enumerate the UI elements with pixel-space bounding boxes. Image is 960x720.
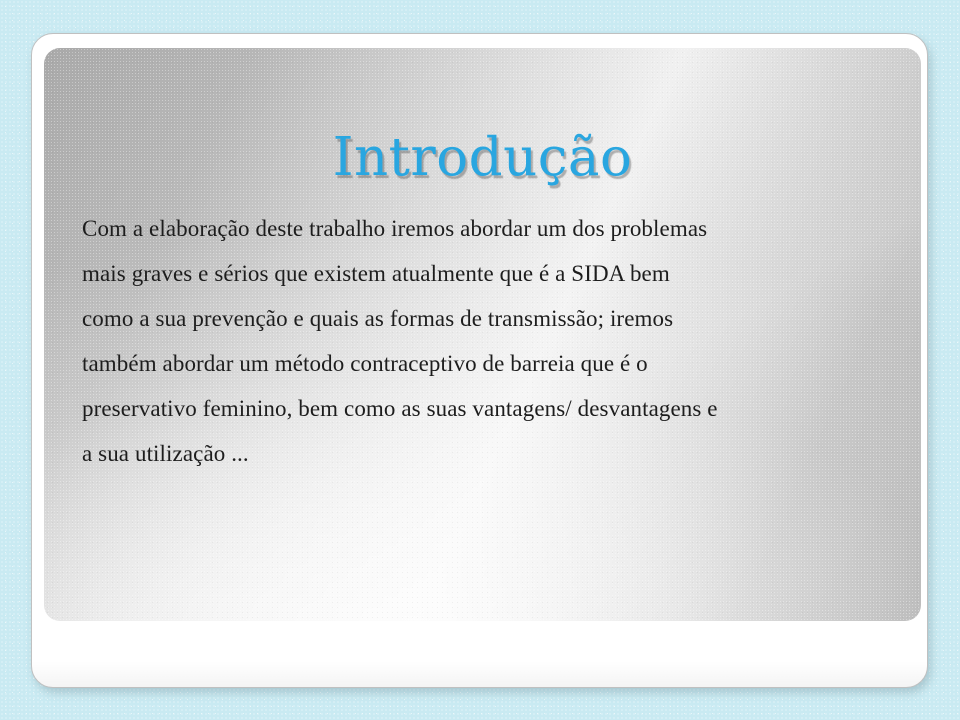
body-line-1: Com a elaboração deste trabalho iremos a… (82, 206, 872, 251)
body-line-6: a sua utilização ... (82, 431, 872, 476)
slide-content-panel: Introdução Com a elaboração deste trabal… (44, 48, 921, 621)
body-line-2: mais graves e sérios que existem atualme… (82, 251, 872, 296)
slide-frame: Introdução Com a elaboração deste trabal… (31, 33, 928, 688)
slide-body-text: Com a elaboração deste trabalho iremos a… (82, 206, 872, 476)
slide-canvas: Introdução Com a elaboração deste trabal… (0, 0, 960, 720)
body-line-4: também abordar um método contraceptivo d… (82, 341, 872, 386)
body-line-5: preservativo feminino, bem como as suas … (82, 386, 872, 431)
slide-title: Introdução (44, 130, 921, 186)
body-line-3: como a sua prevenção e quais as formas d… (82, 296, 872, 341)
